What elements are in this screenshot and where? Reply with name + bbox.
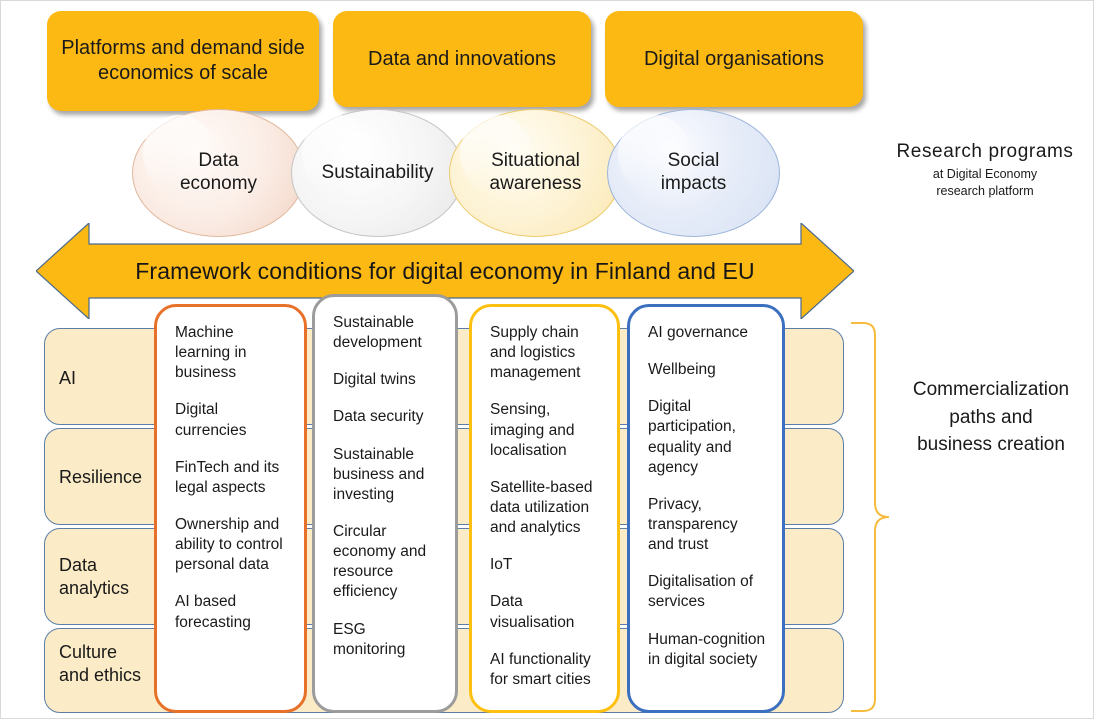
column-item: Ownership and ability to control persona… <box>175 515 288 575</box>
column-item: AI functionality for smart cities <box>490 650 601 690</box>
program-column-sustainability[interactable]: Sustainable development Digital twins Da… <box>312 294 458 713</box>
top-box-data-innovations[interactable]: Data and innovations <box>333 11 591 107</box>
column-item: Circular economy and resource efficiency <box>333 522 439 603</box>
column-item: ESG monitoring <box>333 620 439 660</box>
program-column-situational-awareness[interactable]: Supply chain and logistics management Se… <box>469 304 620 713</box>
top-box-platforms[interactable]: Platforms and demand side economics of s… <box>47 11 319 111</box>
theme-label-resilience: Resilience <box>59 466 154 489</box>
column-item: Sustainable business and investing <box>333 445 439 505</box>
program-column-data-economy[interactable]: Machine learning in business Digital cur… <box>154 304 307 713</box>
top-box-digital-organisations[interactable]: Digital organisations <box>605 11 863 107</box>
circle-social-impacts-label: Social impacts <box>644 150 744 196</box>
framework-conditions-label: Framework conditions for digital economy… <box>36 244 854 298</box>
program-column-social-impacts[interactable]: AI governance Wellbeing Digital particip… <box>627 304 785 713</box>
column-item: Machine learning in business <box>175 323 288 383</box>
circle-social-impacts[interactable]: Social impacts <box>607 109 780 237</box>
circle-situational-awareness-label: Situational awareness <box>480 150 592 196</box>
column-item: Sustainable development <box>333 313 439 353</box>
column-item: Sensing, imaging and localisation <box>490 400 601 460</box>
research-programs-heading: Research programs <box>885 141 1085 163</box>
column-item: AI based forecasting <box>175 592 288 632</box>
column-item: Supply chain and logistics management <box>490 323 601 383</box>
column-item: Digital twins <box>333 370 439 390</box>
framework-conditions-text: Framework conditions for digital economy… <box>135 258 754 285</box>
column-item: AI governance <box>648 323 766 343</box>
commercialization-line-2: paths and <box>891 404 1091 432</box>
research-programs-subtitle-1: at Digital Economy <box>885 166 1085 183</box>
theme-label-ai: AI <box>59 367 151 390</box>
column-item: Digital participation, equality and agen… <box>648 397 766 478</box>
circle-data-economy[interactable]: Data economy <box>132 109 305 237</box>
column-item: FinTech and its legal aspects <box>175 458 288 498</box>
column-item: IoT <box>490 555 601 575</box>
column-item: Digitalisation of services <box>648 572 766 612</box>
research-programs-subtitle-2: research platform <box>885 183 1085 200</box>
top-box-data-innovations-label: Data and innovations <box>368 47 556 72</box>
top-box-platforms-label: Platforms and demand side economics of s… <box>57 36 309 86</box>
commercialization-line-3: business creation <box>891 431 1091 459</box>
circle-data-economy-label: Data economy <box>164 150 274 196</box>
commercialization-note: Commercialization paths and business cre… <box>891 376 1091 459</box>
column-item: Human-cognition in digital society <box>648 630 766 670</box>
circle-sustainability-label: Sustainability <box>322 162 434 185</box>
commercialization-line-1: Commercialization <box>891 376 1091 404</box>
circle-sustainability[interactable]: Sustainability <box>291 109 464 237</box>
column-item: Wellbeing <box>648 360 766 380</box>
column-item: Satellite-based data utilization and ana… <box>490 478 601 538</box>
circle-situational-awareness[interactable]: Situational awareness <box>449 109 622 237</box>
theme-label-culture-ethics: Culture and ethics <box>59 641 151 686</box>
column-item: Data visualisation <box>490 592 601 632</box>
research-programs-note: Research programs at Digital Economy res… <box>885 141 1085 200</box>
top-box-digital-organisations-label: Digital organisations <box>644 47 824 72</box>
diagram-canvas: Platforms and demand side economics of s… <box>0 0 1094 719</box>
column-item: Privacy, transparency and trust <box>648 495 766 555</box>
theme-label-data-analytics: Data analytics <box>59 554 145 599</box>
column-item: Data security <box>333 407 439 427</box>
column-item: Digital currencies <box>175 400 288 440</box>
